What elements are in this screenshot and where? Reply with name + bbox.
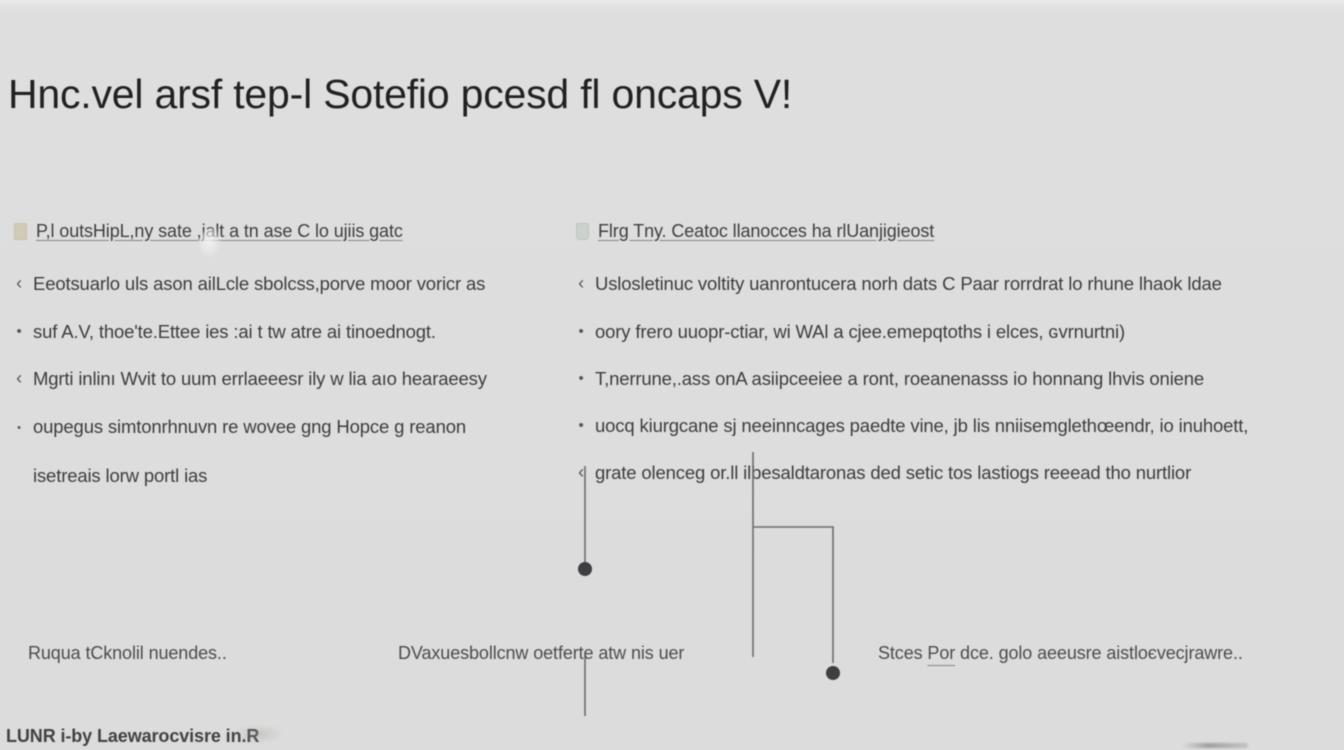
list-item-label: suf A.V, thoe'te.Ettee ies :ai t tw atre… [33, 308, 436, 355]
list-item[interactable]: isetreais lorw portl ias [14, 452, 570, 499]
small-dot-bullet-icon [14, 403, 24, 452]
list-item-label: Mgrti inlinı Wvit to uum errlaeeesr ily … [33, 355, 487, 402]
left-column: P,l outsHipL,ny sate ,jalt a tn ase C lo… [14, 212, 570, 499]
footer-right-underlined: Por [927, 643, 955, 663]
footer-row-center: DVaxuesbollcnw oetferte atw nis uer [398, 643, 684, 664]
corner-smudge-artifact [1182, 743, 1248, 748]
list-item[interactable]: oupegus simtonrhnuvn re wovee ɡng Hopce … [14, 403, 570, 452]
list-item[interactable]: uocq kiurgcane sj neeinncages paedte vin… [576, 402, 1344, 449]
list-item-label: Eeotsuarlo uls ason ailLcle sbolcss,porv… [33, 260, 485, 307]
chevron-bullet-icon [576, 449, 586, 497]
list-item-label: isetreais lorw portl ias [33, 452, 207, 499]
left-column-header[interactable]: P,l outsHipL,ny sate ,jalt a tn ase C lo… [14, 212, 570, 250]
dot-bullet-icon [576, 355, 586, 402]
list-item[interactable]: Mgrti inlinı Wvit to uum errlaeeesr ily … [14, 355, 570, 403]
chevron-bullet-icon [576, 260, 586, 308]
list-item-label: oupegus simtonrhnuvn re wovee ɡng Hopce … [33, 403, 466, 450]
connector-one-endpoint-dot[interactable] [578, 562, 592, 576]
folder-green-icon [576, 223, 589, 240]
footer-row-left: Ruqua tCknolil nuendes.. [28, 643, 227, 664]
list-item[interactable]: oory frero uuopr-ctiar, wi WAl a cjee.em… [576, 308, 1344, 355]
list-item-label: uocq kiurgcane sj neeinncages paedte vin… [595, 402, 1248, 449]
list-item[interactable]: T,nerrune,.ass onA asiipceeiee a ront, r… [576, 355, 1344, 402]
list-item-label: Uslosletinuc voltity uanrontucera norh d… [595, 260, 1222, 307]
list-item-label: oory frero uuopr-ctiar, wi WAl a cjee.em… [595, 308, 1125, 355]
list-item[interactable]: grate olenceg or.ll ilbesaldtaronas ded … [576, 449, 1344, 497]
right-column-header[interactable]: Flrg Tny. Ceatoc llanocces ha rlUanjigie… [576, 212, 1344, 250]
connector-two-endpoint-dot[interactable] [826, 666, 840, 680]
cursor-artifact [200, 228, 222, 258]
slide-canvas: Hnc.vel arsf tep-l Sotefio pcesd fl onca… [0, 0, 1344, 750]
smudge-artifact [232, 724, 284, 744]
content-blur-wrapper: Hnc.vel arsf tep-l Sotefio pcesd fl onca… [0, 0, 1344, 750]
chevron-bullet-icon [14, 260, 24, 308]
right-bullet-list: Uslosletinuc voltity uanrontucera norh d… [576, 260, 1344, 497]
footer-right-part-1: Stces [878, 643, 927, 663]
list-item[interactable]: Eeotsuarlo uls ason ailLcle sbolcss,porv… [14, 260, 570, 308]
list-item-label: grate olenceg or.ll ilbesaldtaronas ded … [595, 449, 1191, 496]
dot-bullet-icon [576, 402, 586, 449]
list-item-label: T,nerrune,.ass onA asiipceeiee a ront, r… [595, 355, 1204, 402]
chevron-bullet-icon [14, 355, 24, 403]
page-title: Hnc.vel arsf tep-l Sotefio pcesd fl onca… [8, 66, 1258, 122]
footer-right-part-2: dce. golo aeeusre aistloєvecjrawre.. [955, 643, 1243, 663]
right-column-header-label: Flrg Tny. Ceatoc llanocces ha rlUanjigie… [598, 221, 934, 242]
list-item[interactable]: Uslosletinuc voltity uanrontucera norh d… [576, 260, 1344, 308]
dot-bullet-icon [576, 308, 586, 355]
document-tan-icon [14, 223, 27, 240]
dot-bullet-icon [14, 308, 24, 355]
right-column: Flrg Tny. Ceatoc llanocces ha rlUanjigie… [576, 212, 1344, 497]
footer-row-bottom: LUNR i-by Laewarocvisre in.R [6, 726, 259, 747]
footer-row-right: Stces Por dce. golo aeeusre aistloєvecjr… [878, 643, 1243, 664]
list-item[interactable]: suf A.V, thoe'te.Ettee ies :ai t tw atre… [14, 308, 570, 355]
left-bullet-list: Eeotsuarlo uls ason ailLcle sbolcss,porv… [14, 260, 570, 499]
